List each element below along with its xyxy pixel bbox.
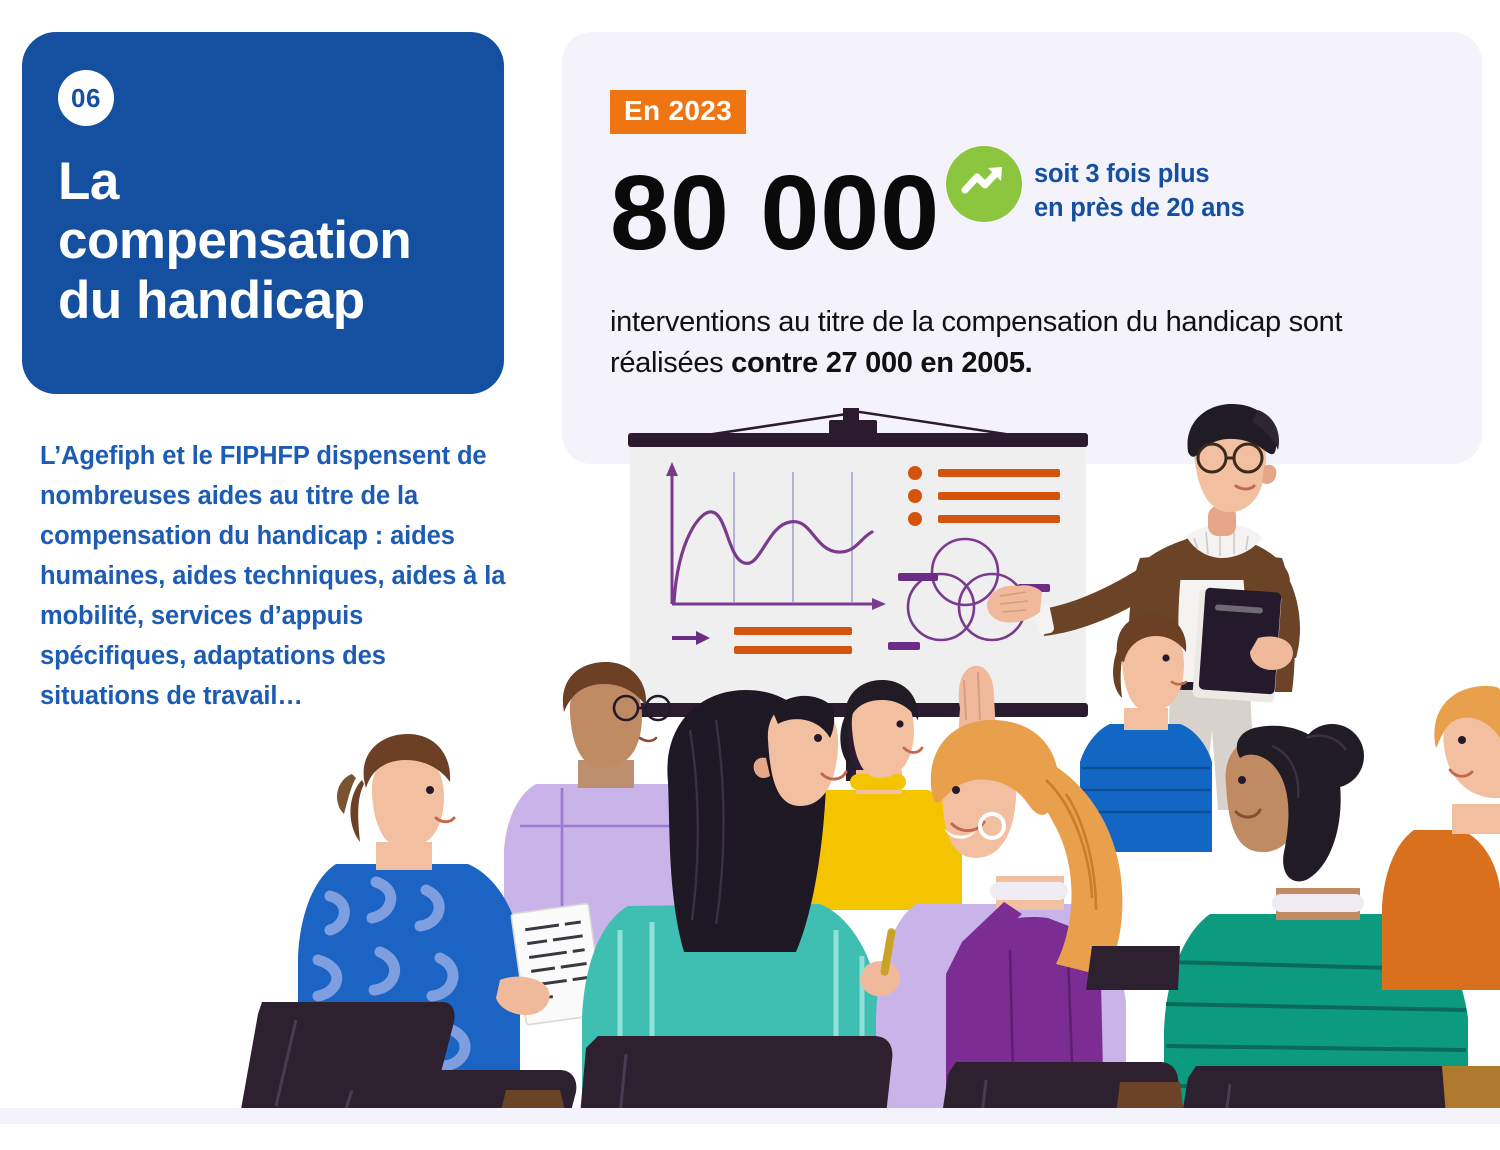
page-title-line-3: du handicap — [58, 271, 468, 330]
trend-note-line-1: soit 3 fois plus — [1034, 158, 1245, 192]
headline-figure: 80 000 — [610, 146, 940, 266]
trending-up-arrow-icon — [946, 146, 1022, 222]
trend-note-line-2: en près de 20 ans — [1034, 192, 1245, 226]
trend-note: soit 3 fois plus en près de 20 ans — [1034, 158, 1245, 226]
statistic-sentence-bold: contre 27 000 en 2005. — [731, 347, 1032, 379]
section-number-badge: 06 — [58, 70, 114, 126]
page-title-line-2: compensation — [58, 211, 468, 270]
headline-figure-row: 80 000 soit 3 fois plus en près de 20 an… — [610, 146, 1442, 266]
bottom-divider-band — [0, 1108, 1500, 1124]
page-title: La compensation du handicap — [58, 152, 468, 330]
page-title-line-1: La — [58, 152, 468, 211]
attendee-orange-sweater — [1382, 686, 1500, 990]
section-number-card: 06 La compensation du handicap — [22, 32, 504, 394]
statistic-sentence: interventions au titre de la compensatio… — [610, 302, 1442, 384]
year-badge: En 2023 — [610, 90, 746, 134]
classroom-presentation-illustration — [0, 390, 1500, 1115]
